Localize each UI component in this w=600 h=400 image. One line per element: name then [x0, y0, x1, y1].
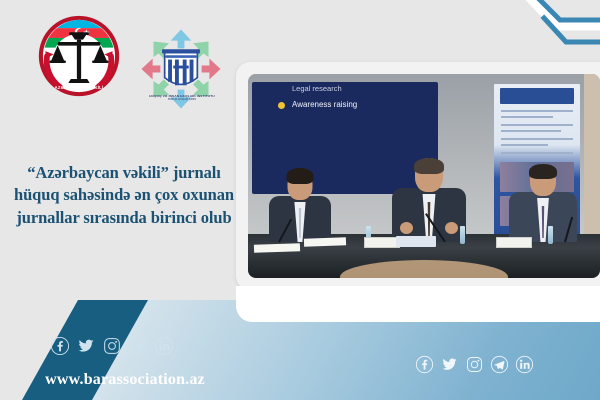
footer-photo-cutout [236, 286, 600, 322]
photo-frame: Legal research Awareness raising [236, 62, 600, 290]
headline-line-2: hüquq sahəsində ən çox oxunan [8, 184, 240, 206]
photo-wall-strip [584, 74, 600, 240]
banner-text-row [501, 138, 573, 140]
panelist-hair [287, 168, 314, 184]
telegram-icon[interactable] [490, 355, 509, 374]
facebook-icon[interactable] [50, 336, 70, 356]
panelist-center [388, 146, 470, 242]
water-bottle [460, 226, 465, 244]
documents [304, 237, 346, 246]
banner-text-row [501, 110, 573, 112]
chevron-outer-icon [500, 0, 600, 42]
emblem-ring-text: AZƏRBAYCAN VƏKİLİ [55, 85, 104, 90]
chevron-inner-icon [540, 14, 600, 54]
banner-text-row [501, 116, 553, 118]
azerbaijan-bar-association-emblem: AZƏRBAYCAN VƏKİLİ [38, 15, 120, 97]
slide-bullet-dot [278, 102, 285, 109]
institute-caption: HÜQUQ VƏ İNSAN HAQLARI İNSTİTUTU PUBLİK … [130, 94, 234, 102]
panelist-hand [400, 222, 413, 234]
instagram-icon[interactable] [465, 355, 484, 374]
linkedin-icon[interactable] [515, 355, 534, 374]
institute-caption-line2: PUBLİK HÜQUQİ ŞƏXS [130, 98, 234, 101]
documents [254, 243, 300, 253]
banner-text-row [501, 124, 573, 126]
facebook-icon[interactable] [415, 355, 434, 374]
twitter-icon[interactable] [76, 336, 96, 356]
banner-header [500, 88, 574, 104]
headline: “Azərbaycan vəkili” jurnalı hüquq sahəsi… [8, 162, 240, 229]
instagram-icon[interactable] [102, 336, 122, 356]
linkedin-icon[interactable] [154, 336, 174, 356]
conference-panel-photograph: Legal research Awareness raising [248, 74, 600, 278]
banner-text-row [501, 144, 548, 146]
social-links-right[interactable] [415, 355, 534, 374]
social-links-left[interactable] [50, 336, 174, 356]
headline-line-3: jurnallar sırasında birinci olub [8, 207, 240, 229]
telegram-icon[interactable] [128, 336, 148, 356]
banner-text-row [501, 130, 561, 132]
slide-line-2: Awareness raising [292, 100, 357, 109]
headline-line-1: “Azərbaycan vəkili” jurnalı [8, 162, 240, 184]
water-bottle [548, 226, 553, 244]
logo-row: AZƏRBAYCAN VƏKİLİ [30, 12, 220, 102]
name-plate [364, 237, 400, 248]
tissue-box [396, 236, 436, 247]
slide-line-1: Legal research [292, 84, 342, 93]
panelist-hand [445, 222, 458, 234]
name-plate [496, 237, 532, 248]
twitter-icon[interactable] [440, 355, 459, 374]
panelist-left [266, 158, 334, 242]
social-media-post-card: AZƏRBAYCAN VƏKİLİ [0, 0, 600, 400]
panelist-hair [414, 158, 444, 174]
panelist-hair [529, 164, 557, 179]
website-url[interactable]: www.barassociation.az [0, 371, 250, 389]
